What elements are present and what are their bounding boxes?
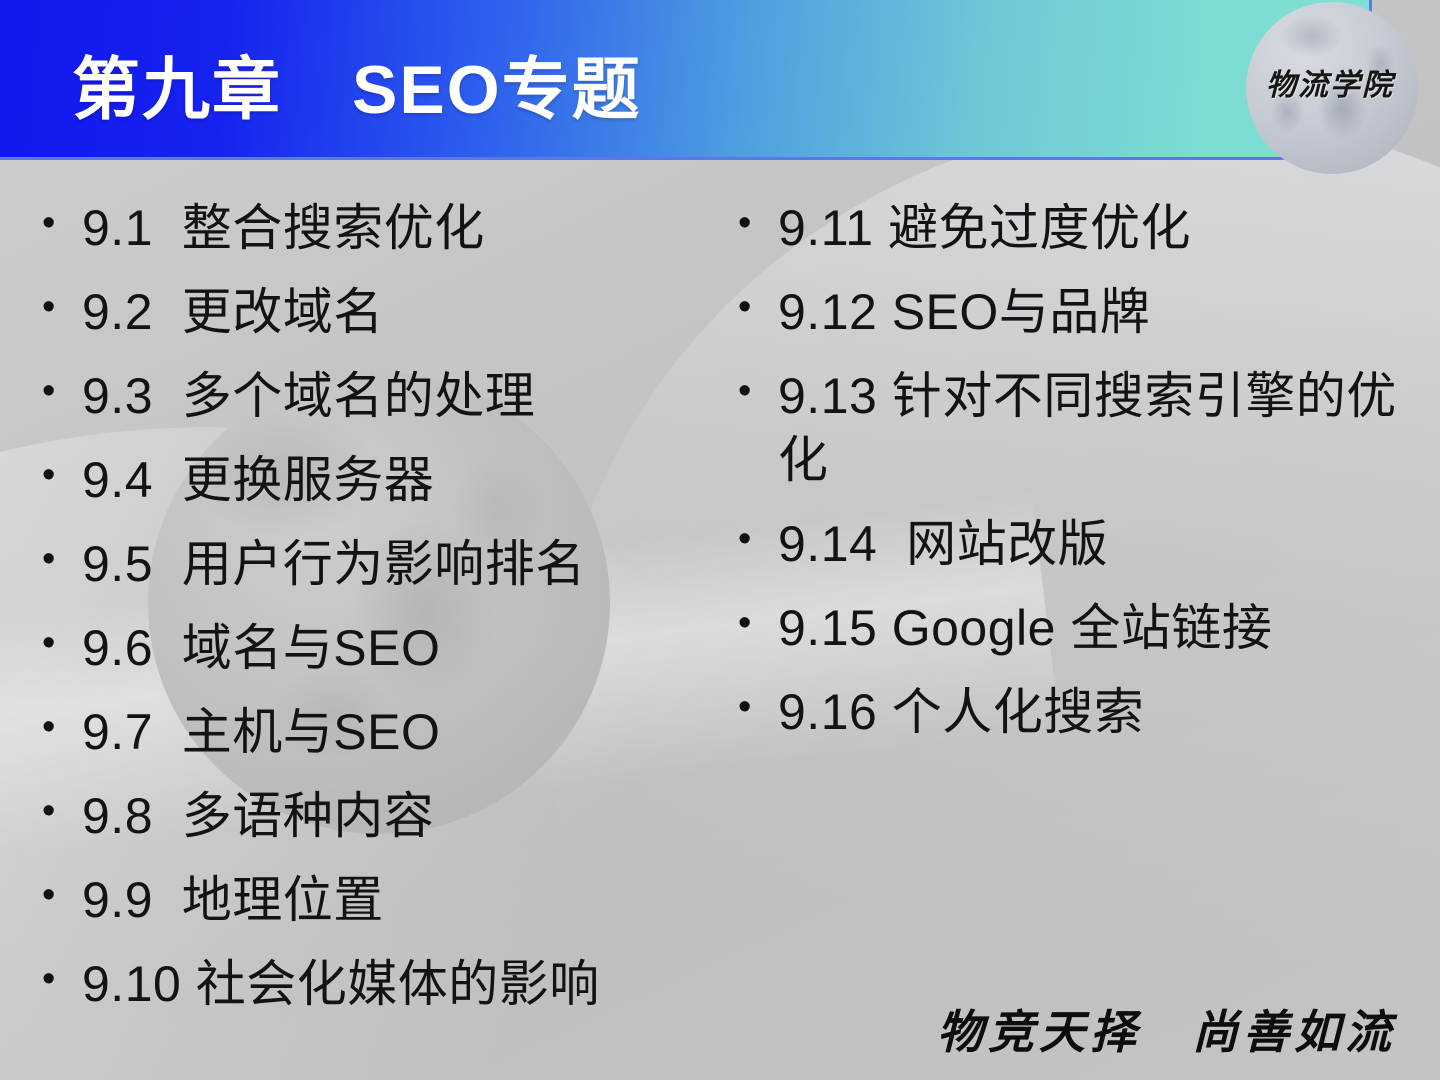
presentation-slide: 第九章 SEO专题 物流学院 • 9.1 整合搜索优化 • 9.2 更改域名 •… [0, 0, 1440, 1080]
list-item: • 9.6 域名与SEO [42, 616, 732, 680]
bullet-icon: • [42, 784, 82, 839]
list-item-label: 9.11 避免过度优化 [778, 196, 1438, 260]
list-item-label: 9.16 个人化搜索 [778, 680, 1438, 744]
list-item: • 9.2 更改域名 [42, 280, 732, 344]
list-item-label: 9.7 主机与SEO [82, 700, 732, 764]
bullet-icon: • [42, 700, 82, 755]
list-item: • 9.8 多语种内容 [42, 784, 732, 848]
outline-right-column: • 9.11 避免过度优化 • 9.12 SEO与品牌 • 9.13 针对不同搜… [738, 196, 1438, 764]
bullet-icon: • [738, 280, 778, 335]
slide-title: 第九章 SEO专题 [72, 34, 642, 133]
bullet-icon: • [42, 616, 82, 671]
bullet-icon: • [42, 196, 82, 251]
list-item: • 9.16 个人化搜索 [738, 680, 1438, 744]
outline-left-column: • 9.1 整合搜索优化 • 9.2 更改域名 • 9.3 多个域名的处理 • … [42, 196, 732, 1036]
bullet-icon: • [42, 868, 82, 923]
bullet-icon: • [42, 952, 82, 1007]
list-item: • 9.9 地理位置 [42, 868, 732, 932]
list-item: • 9.4 更换服务器 [42, 448, 732, 512]
bullet-icon: • [42, 364, 82, 419]
list-item-label: 9.14 网站改版 [778, 512, 1438, 576]
list-item-label: 9.6 域名与SEO [82, 616, 732, 680]
bullet-icon: • [738, 196, 778, 251]
institution-logo: 物流学院 [1232, 2, 1428, 174]
list-item: • 9.11 避免过度优化 [738, 196, 1438, 260]
slide-header-banner: 第九章 SEO专题 [0, 0, 1372, 160]
list-item: • 9.12 SEO与品牌 [738, 280, 1438, 344]
list-item-label: 9.4 更换服务器 [82, 448, 732, 512]
bullet-icon: • [42, 448, 82, 503]
list-item: • 9.15 Google 全站链接 [738, 596, 1438, 660]
bullet-icon: • [738, 680, 778, 735]
list-item-label: 9.12 SEO与品牌 [778, 280, 1438, 344]
list-item: • 9.5 用户行为影响排名 [42, 532, 732, 596]
bullet-icon: • [738, 364, 778, 419]
footer-motto: 物竞天择 尚善如流 [937, 996, 1396, 1062]
list-item-label: 9.1 整合搜索优化 [82, 196, 732, 260]
list-item-label: 9.13 针对不同搜索引擎的优化 [778, 364, 1438, 492]
list-item-label: 9.5 用户行为影响排名 [82, 532, 732, 596]
list-item-label: 9.15 Google 全站链接 [778, 596, 1438, 660]
list-item: • 9.14 网站改版 [738, 512, 1438, 576]
list-item: • 9.13 针对不同搜索引擎的优化 [738, 364, 1438, 492]
bullet-icon: • [42, 280, 82, 335]
bullet-icon: • [738, 512, 778, 567]
list-item: • 9.7 主机与SEO [42, 700, 732, 764]
slide-content: • 9.1 整合搜索优化 • 9.2 更改域名 • 9.3 多个域名的处理 • … [0, 196, 1440, 986]
list-item: • 9.10 社会化媒体的影响 [42, 952, 732, 1016]
list-item-label: 9.10 社会化媒体的影响 [82, 952, 732, 1016]
list-item-label: 9.9 地理位置 [82, 868, 732, 932]
list-item-label: 9.8 多语种内容 [82, 784, 732, 848]
list-item-label: 9.3 多个域名的处理 [82, 364, 732, 428]
bullet-icon: • [738, 596, 778, 651]
list-item: • 9.3 多个域名的处理 [42, 364, 732, 428]
list-item: • 9.1 整合搜索优化 [42, 196, 732, 260]
bullet-icon: • [42, 532, 82, 587]
logo-text: 物流学院 [1232, 60, 1428, 104]
list-item-label: 9.2 更改域名 [82, 280, 732, 344]
